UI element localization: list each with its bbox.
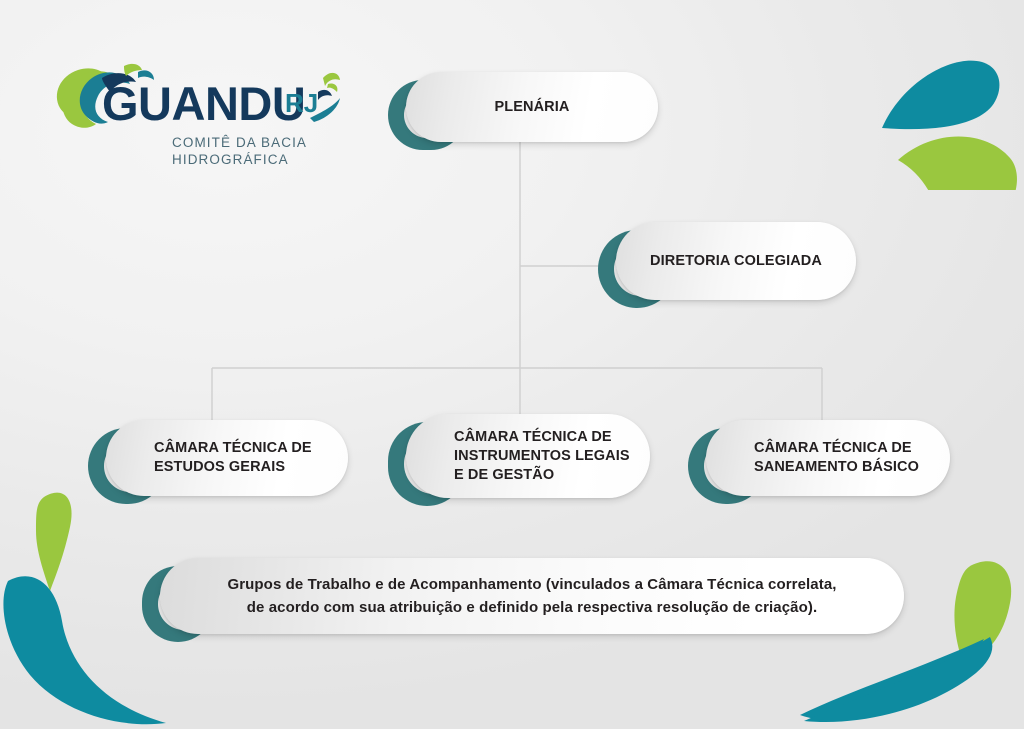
organizational-chart: GUANDU RJ COMITÊ DA BACIA HIDROGRÁFICA — [0, 0, 1024, 729]
node-diretoria-colegiada[interactable]: DIRETORIA COLEGIADA — [598, 222, 856, 300]
node-camara-tecnica-saneamento-basico[interactable]: CÂMARA TÉCNICA DE SANEAMENTO BÁSICO — [688, 420, 950, 496]
node-ct-instrumentos-label: CÂMARA TÉCNICA DE INSTRUMENTOS LEGAIS E … — [406, 428, 630, 485]
node-ct-estudos-pill[interactable]: CÂMARA TÉCNICA DE ESTUDOS GERAIS — [106, 420, 348, 496]
node-grupos-pill[interactable]: Grupos de Trabalho e de Acompanhamento (… — [160, 558, 904, 634]
node-plenaria-pill[interactable]: PLENÁRIA — [406, 72, 658, 142]
node-grupos-label: Grupos de Trabalho e de Acompanhamento (… — [187, 573, 876, 619]
node-camara-tecnica-estudos-gerais[interactable]: CÂMARA TÉCNICA DE ESTUDOS GERAIS — [88, 420, 348, 496]
node-ct-estudos-label: CÂMARA TÉCNICA DE ESTUDOS GERAIS — [106, 439, 312, 477]
node-plenaria[interactable]: PLENÁRIA — [388, 72, 658, 142]
node-ct-saneamento-pill[interactable]: CÂMARA TÉCNICA DE SANEAMENTO BÁSICO — [706, 420, 950, 496]
node-diretoria-label: DIRETORIA COLEGIADA — [650, 252, 822, 271]
node-diretoria-pill[interactable]: DIRETORIA COLEGIADA — [616, 222, 856, 300]
node-ct-saneamento-label: CÂMARA TÉCNICA DE SANEAMENTO BÁSICO — [706, 439, 919, 477]
node-plenaria-label: PLENÁRIA — [495, 98, 570, 117]
node-camara-tecnica-instrumentos-legais[interactable]: CÂMARA TÉCNICA DE INSTRUMENTOS LEGAIS E … — [388, 414, 650, 498]
node-grupos-de-trabalho[interactable]: Grupos de Trabalho e de Acompanhamento (… — [142, 558, 904, 634]
node-ct-instrumentos-pill[interactable]: CÂMARA TÉCNICA DE INSTRUMENTOS LEGAIS E … — [406, 414, 650, 498]
